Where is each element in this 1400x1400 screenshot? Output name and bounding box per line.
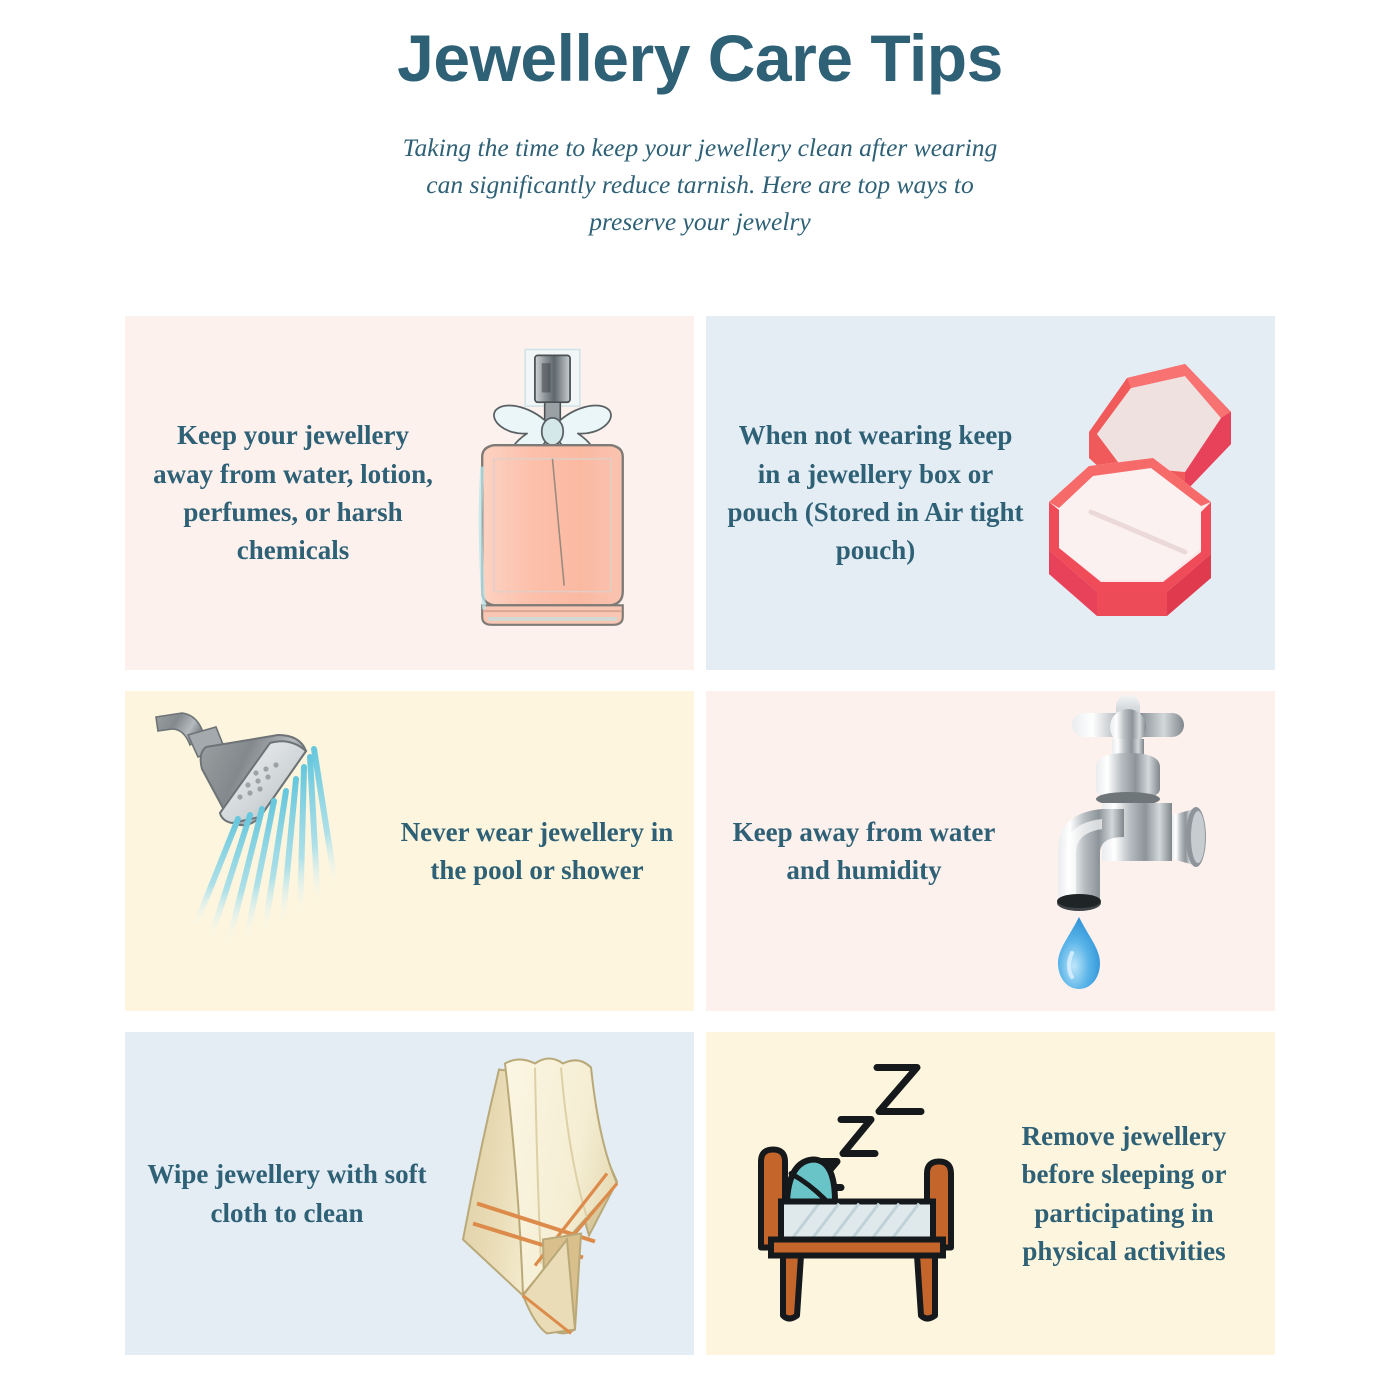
tip-card-5: Wipe jewellery with soft cloth to clean bbox=[125, 1032, 694, 1355]
header: Jewellery Care Tips Taking the time to k… bbox=[0, 0, 1400, 241]
tip-card-4-text: Keep away from water and humidity bbox=[706, 813, 1022, 890]
tip-card-6: Remove jewellery before sleeping or part… bbox=[706, 1032, 1275, 1355]
sleeping-bed-icon bbox=[731, 1032, 981, 1355]
shower-head-icon bbox=[150, 691, 380, 1011]
tips-grid: Keep your jewellery away from water, lot… bbox=[125, 316, 1275, 1355]
tip-card-5-text: Wipe jewellery with soft cloth to clean bbox=[125, 1155, 449, 1232]
tip-card-6-text: Remove jewellery before sleeping or part… bbox=[981, 1117, 1275, 1270]
tip-card-1-text: Keep your jewellery away from water, lot… bbox=[125, 416, 449, 569]
tip-card-3-text: Never wear jewellery in the pool or show… bbox=[380, 813, 694, 890]
ring-box-icon bbox=[1035, 316, 1250, 670]
page-subtitle: Taking the time to keep your jewellery c… bbox=[390, 130, 1010, 241]
infographic-page: Jewellery Care Tips Taking the time to k… bbox=[0, 0, 1400, 1400]
tip-card-1: Keep your jewellery away from water, lot… bbox=[125, 316, 694, 670]
tip-card-3: Never wear jewellery in the pool or show… bbox=[125, 691, 694, 1011]
tip-card-4: Keep away from water and humidity bbox=[706, 691, 1275, 1011]
polishing-cloth-icon bbox=[449, 1032, 649, 1355]
tip-card-2-text: When not wearing keep in a jewellery box… bbox=[706, 416, 1035, 569]
page-title: Jewellery Care Tips bbox=[0, 22, 1400, 96]
tip-card-2: When not wearing keep in a jewellery box… bbox=[706, 316, 1275, 670]
faucet-drip-icon bbox=[1022, 691, 1227, 1011]
perfume-bottle-icon bbox=[449, 316, 654, 670]
